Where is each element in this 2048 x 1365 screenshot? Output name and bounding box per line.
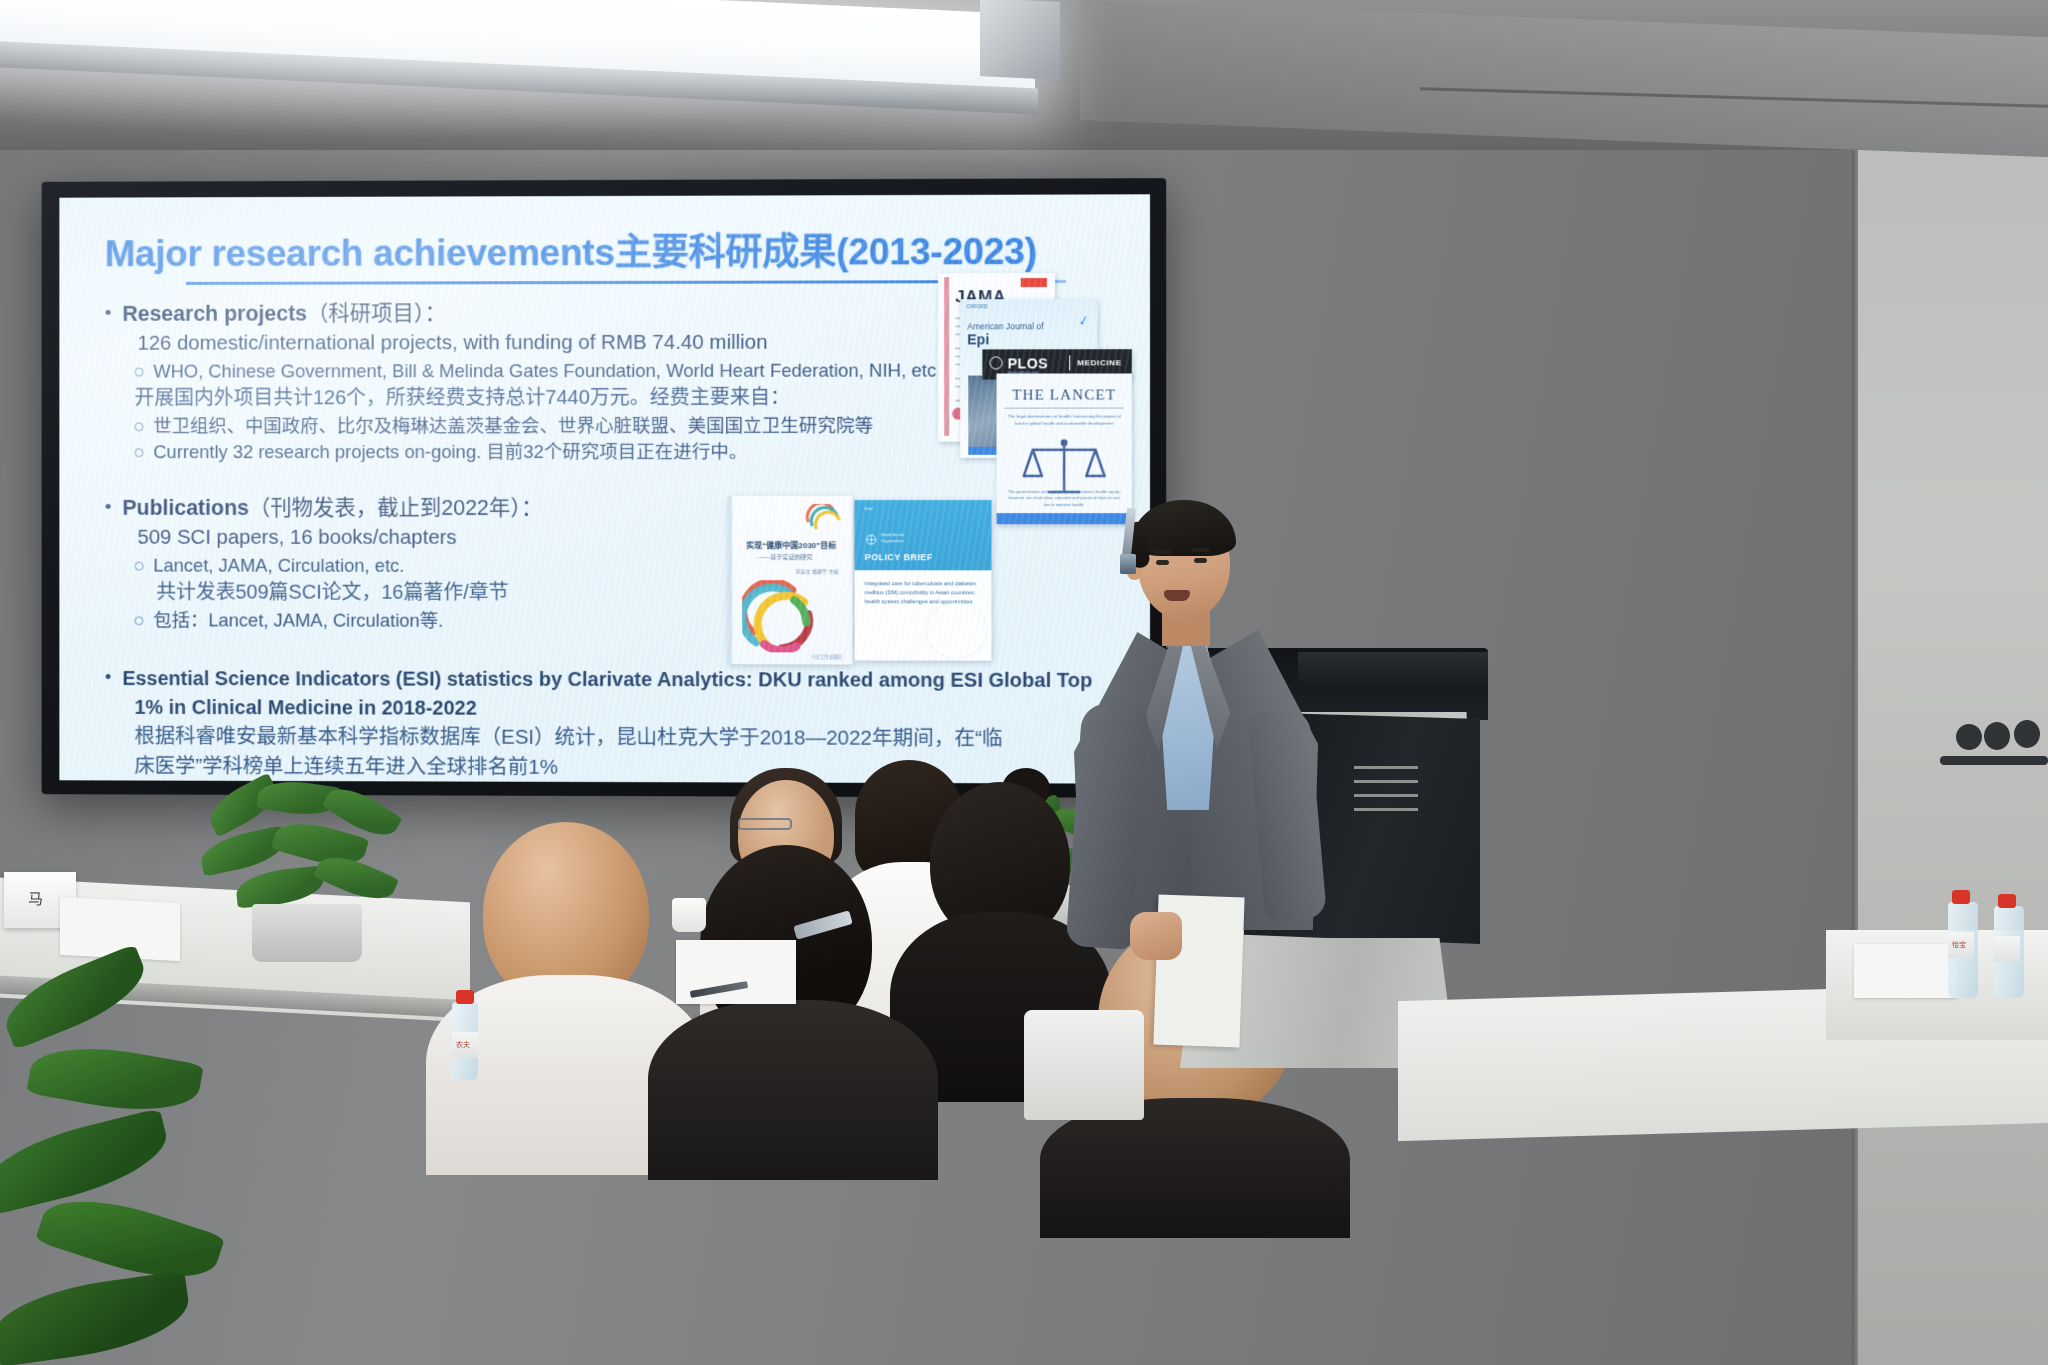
aje-line1: American Journal of <box>967 321 1043 331</box>
section-heading: Research projects（科研项目）： <box>122 300 446 328</box>
policy-brief-org: World HealthOrganization <box>881 532 904 544</box>
bottle-label <box>1994 936 2020 962</box>
dumbbell <box>2014 720 2040 748</box>
plos-logo-icon <box>989 356 1002 369</box>
slide-line: Currently 32 research projects on-going.… <box>153 439 747 465</box>
aje-line2: Epi <box>967 331 989 347</box>
bottle-cap <box>1952 890 1970 904</box>
book-cover-group: 实现“健康中国2030”目标 ——基于实证的研究 刘远立 胡建平 主编 <box>728 496 991 665</box>
eyeglasses-icon <box>738 818 792 830</box>
presentation-slide: Major research achievements主要科研成果(2013-2… <box>59 194 1150 783</box>
eyebrow <box>1154 550 1172 554</box>
checkmark-icon: ✓ <box>1077 312 1092 330</box>
book-title-cn: 实现“健康中国2030”目标 <box>746 540 836 551</box>
light-panel-end-cap <box>980 0 1060 80</box>
dumbbell <box>1956 724 1982 750</box>
cover-publisher: OXFORD <box>966 304 988 310</box>
slide-title: Major research achievements主要科研成果(2013-2… <box>105 233 1116 274</box>
dumbbell <box>1984 722 2010 750</box>
journal-cover-collage: JAMA OXFORD ✓ American Journal of Epi <box>916 273 1132 474</box>
potted-plant <box>196 782 426 962</box>
bullet-dot-icon: • <box>105 301 112 326</box>
microphone-head-icon <box>1120 554 1136 574</box>
foreground-plant <box>0 940 260 1365</box>
policy-brief-header: Brief World HealthOrganization POLICY BR… <box>855 500 992 570</box>
bottle-label: 怡宝 <box>1948 932 1974 958</box>
book-spine <box>728 496 732 664</box>
slide-line: Lancet, JAMA, Circulation, etc. <box>153 553 404 579</box>
mouth <box>1164 590 1190 601</box>
policy-brief-watermark <box>925 602 987 658</box>
rainbow-ring-logo-icon <box>742 580 818 652</box>
plos-divider <box>1069 355 1070 370</box>
who-logo-icon <box>865 532 878 543</box>
slide-line: Essential Science Indicators (ESI) stati… <box>122 666 1092 696</box>
audience-member-body <box>648 1000 938 1180</box>
equipment-shelf <box>1940 756 2048 765</box>
slide-line: 世卫组织、中国政府、比尔及梅琳达盖茨基金会、世界心脏联盟、美国国立卫生研究院等 <box>153 413 873 440</box>
wall-display-bezel: Major research achievements主要科研成果(2013-2… <box>42 178 1167 798</box>
right-wall <box>1858 0 2048 1365</box>
bottle-cap <box>456 990 474 1004</box>
water-bottle: 农夫 <box>452 1002 478 1080</box>
healthy-china-2030-book-cover: 实现“健康中国2030”目标 ——基于实证的研究 刘远立 胡建平 主编 <box>728 496 852 664</box>
sub-bullet-circle-icon <box>135 422 144 431</box>
bottle-label: 农夫 <box>452 1032 478 1058</box>
eye <box>1156 560 1169 565</box>
hand <box>1130 912 1182 960</box>
name-card-text: 马 <box>28 888 43 909</box>
bullet-dot-icon: • <box>105 666 112 691</box>
lancet-title: THE LANCET <box>997 387 1132 404</box>
bottle-cap <box>1998 894 2016 908</box>
book-publisher: 人民卫生出版社 <box>811 654 843 660</box>
eyebrow <box>1192 548 1210 552</box>
slide-line: 1% in Clinical Medicine in 2018-2022 <box>135 694 1116 725</box>
policy-brief-cover: Brief World HealthOrganization POLICY BR… <box>855 500 992 661</box>
plos-section: MEDICINE <box>1077 358 1121 367</box>
sub-bullet-circle-icon <box>135 367 144 376</box>
slide-line: 根据科睿唯安最新基本科学指标数据库（ESI）统计，昆山杜克大学于2018—202… <box>135 722 1116 754</box>
sub-bullet-circle-icon <box>135 448 144 457</box>
water-bottle <box>1994 906 2024 998</box>
book-author-cn: 刘远立 胡建平 主编 <box>796 568 839 575</box>
policy-brief-kicker: POLICY BRIEF <box>865 552 933 562</box>
paper-sheet <box>1854 944 1958 998</box>
slide-line: WHO, Chinese Government, Bill & Melinda … <box>153 357 941 384</box>
ring-logo-small-icon <box>804 504 840 530</box>
book-subtitle-cn: ——基于实证的研究 <box>758 552 812 561</box>
lectern-top-panel <box>1298 652 1488 690</box>
cover-side-rule <box>944 277 949 436</box>
lancet-caption-top: The legal determinants of health: harnes… <box>1007 414 1122 427</box>
slide-section-esi: • Essential Science Indicators (ESI) sta… <box>105 666 1116 784</box>
slide-line: 包括：Lancet, JAMA, Circulation等. <box>153 608 443 635</box>
bullet-dot-icon: • <box>105 495 112 520</box>
section-heading: Publications（刊物发表，截止到2022年）： <box>122 495 542 523</box>
cover-red-flag <box>1021 278 1047 287</box>
conference-room-scene: Major research achievements主要科研成果(2013-2… <box>0 0 2048 1365</box>
paper-cup <box>672 898 706 932</box>
bullet-row: • Essential Science Indicators (ESI) sta… <box>105 666 1116 696</box>
wall-display-screen: Major research achievements主要科研成果(2013-2… <box>59 194 1150 783</box>
sub-bullet-circle-icon <box>135 562 144 571</box>
sub-bullet-circle-icon <box>135 617 144 626</box>
slide-line: 床医学”学科榜单上连续五年进入全球排名前1% <box>135 752 1116 784</box>
water-bottle: 怡宝 <box>1948 902 1978 998</box>
eye <box>1194 558 1207 563</box>
lancet-rule <box>1005 408 1124 409</box>
policy-brief-kicker-small: Brief <box>865 506 873 511</box>
presenter <box>1080 498 1320 1058</box>
